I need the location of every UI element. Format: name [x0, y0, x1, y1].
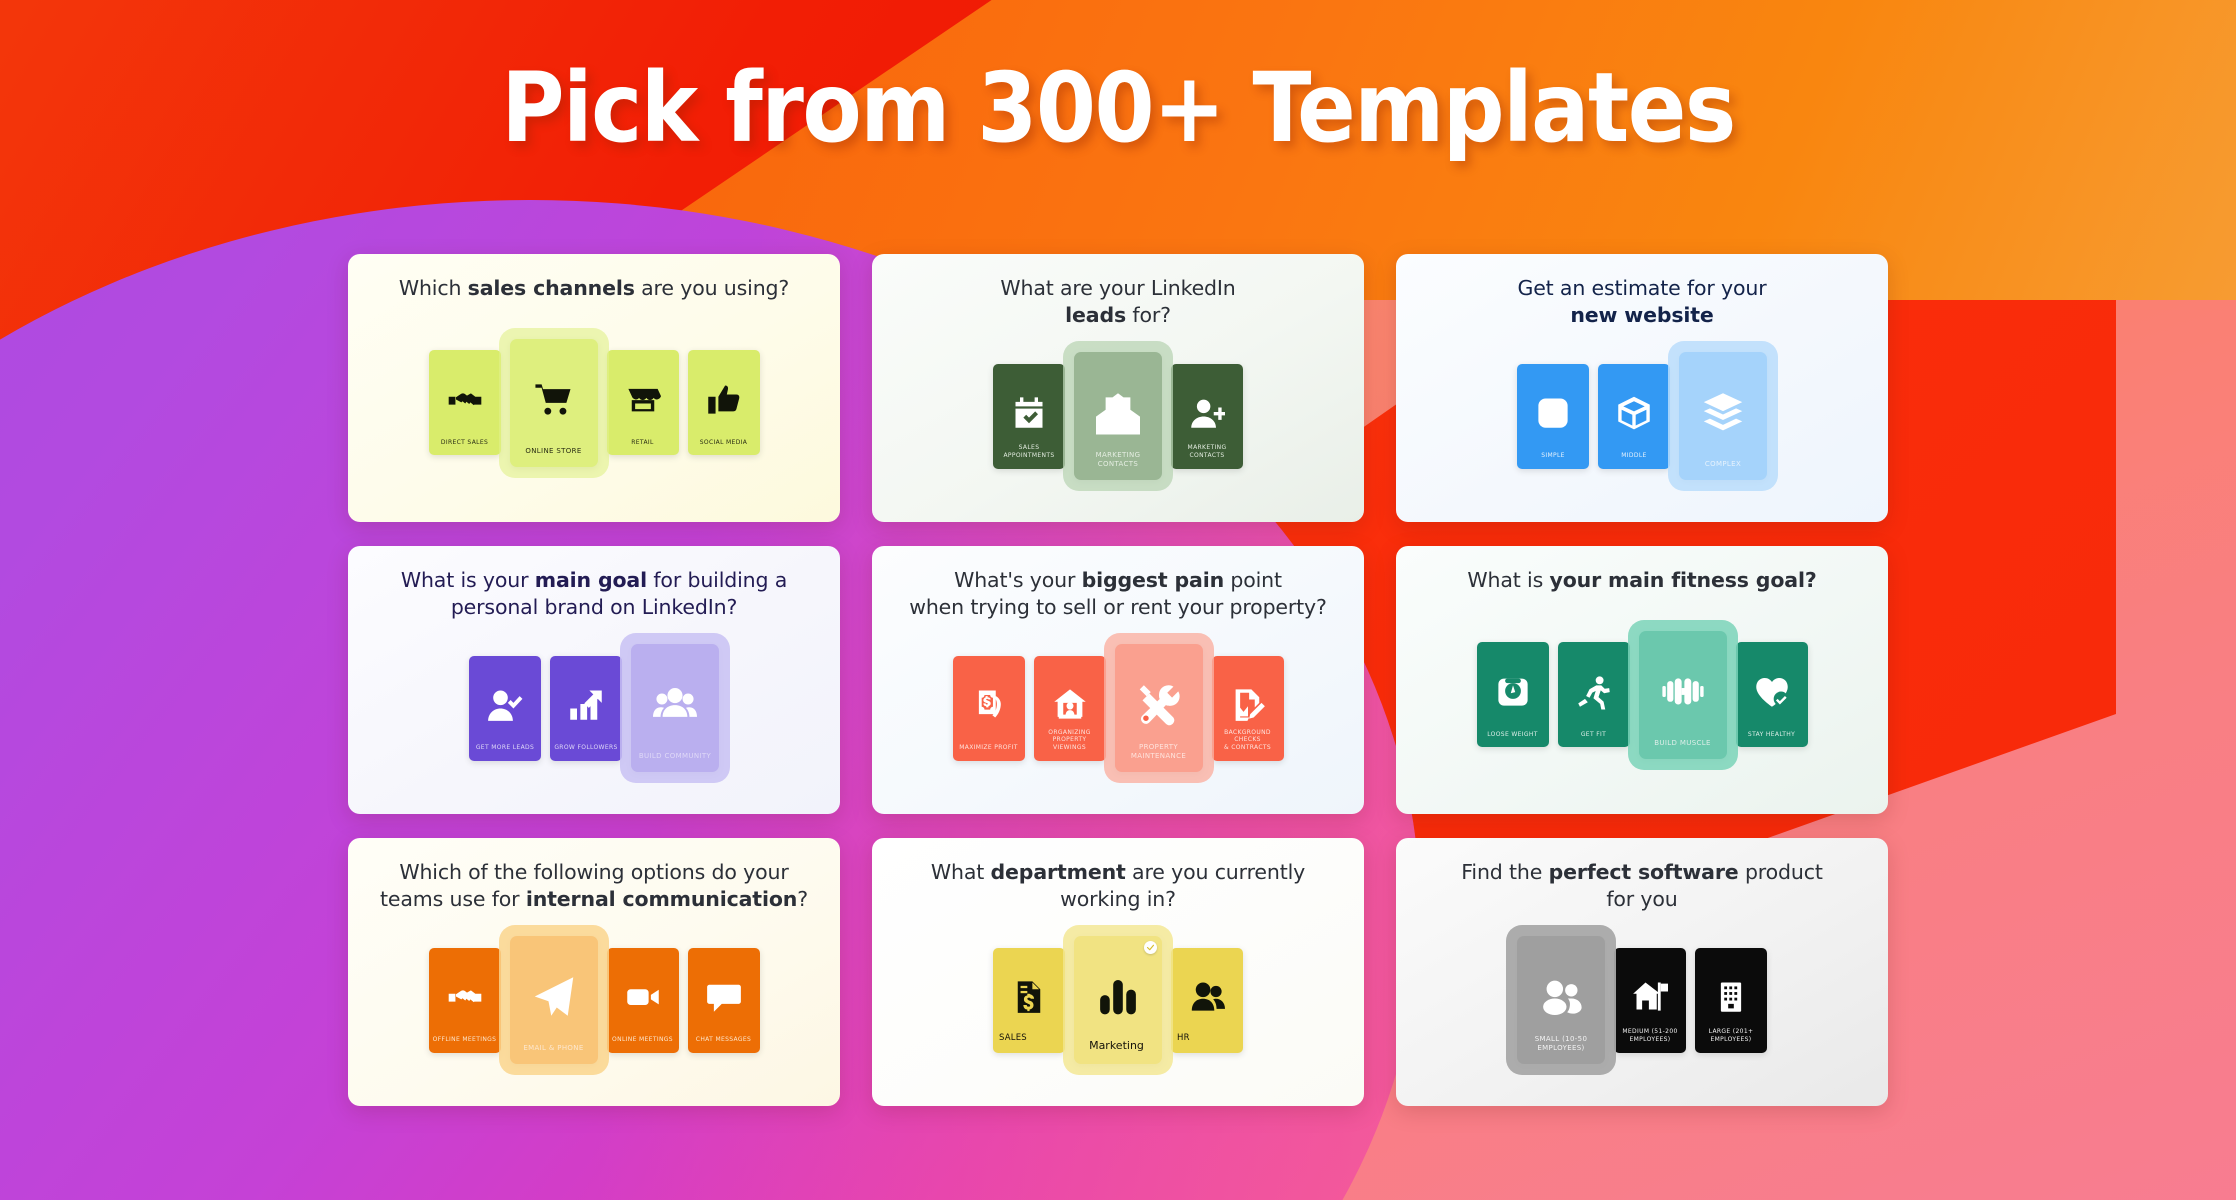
answer-tile-get-more-leads[interactable]: GET MORE LEADS [469, 656, 541, 761]
three-people-icon [1517, 975, 1605, 1019]
answer-tile-label: SALES APPOINTMENTS [993, 444, 1065, 468]
card-question: What's your biggest pain pointwhen tryin… [887, 567, 1349, 620]
document-pencil-icon [1212, 687, 1284, 723]
answer-tile-label: GROW FOLLOWERS [550, 744, 622, 761]
answer-tile-label: Marketing [1074, 1039, 1162, 1064]
answer-tile-label: ONLINE MEETINGS [607, 1036, 679, 1053]
answer-tile-label: MEDIUM (51-200 EMPLOYEES) [1614, 1028, 1686, 1052]
paper-plane-icon [510, 975, 598, 1019]
card-question: Which of the following options do yourte… [363, 859, 825, 912]
answer-tile-marketing[interactable]: Marketing [1074, 936, 1162, 1064]
answer-tile-label: SMALL (10-50 EMPLOYEES) [1517, 1035, 1605, 1064]
answer-tile-label: BACKGROUND CHECKS& CONTRACTS [1212, 729, 1284, 761]
template-card-linkedin-leads[interactable]: What are your LinkedInleads for?SALES AP… [872, 254, 1364, 522]
answer-tile-label: GET FIT [1558, 731, 1630, 748]
answer-tile-label: PROPERTY MAINTENANCE [1115, 743, 1203, 772]
answer-tile-label: SIMPLE [1517, 452, 1589, 469]
answer-tile-build-muscle[interactable]: BUILD MUSCLE [1639, 631, 1727, 759]
answer-tile-label: STAY HEALTHY [1736, 731, 1808, 748]
money-hand-icon [953, 687, 1025, 723]
answer-tile-direct-sales[interactable]: DIRECT SALES [429, 350, 501, 455]
office-building-icon [1695, 979, 1767, 1015]
answer-tile-row: DIRECT SALESONLINE STORERETAILSOCIAL MED… [348, 302, 840, 522]
card-question: What is your main goal for building aper… [363, 567, 825, 620]
answer-tile-online-meetings[interactable]: ONLINE MEETINGS [607, 948, 679, 1053]
card-question: Which sales channels are you using? [363, 275, 825, 302]
tools-icon [1115, 683, 1203, 727]
answer-tile-label: HR [1171, 1033, 1243, 1053]
template-card-personal-brand-goal[interactable]: What is your main goal for building aper… [348, 546, 840, 814]
answer-tile-organizing-property-viewings[interactable]: ORGANIZINGPROPERTY VIEWINGS [1034, 656, 1106, 761]
answer-tile-label: MAXIMIZE PROFIT [953, 744, 1025, 761]
answer-tile-build-community[interactable]: BUILD COMMUNITY [631, 644, 719, 772]
weight-scale-icon [1477, 674, 1549, 710]
answer-tile-get-fit[interactable]: GET FIT [1558, 642, 1630, 747]
answer-tile-chat-messages[interactable]: CHAT MESSAGES [688, 948, 760, 1053]
card-question: What are your LinkedInleads for? [887, 275, 1349, 328]
answer-tile-label: CHAT MESSAGES [688, 1036, 760, 1053]
card-question: What is your main fitness goal? [1411, 567, 1873, 594]
answer-tile-label: MARKETING CONTACTS [1171, 444, 1243, 468]
answer-tile-row: SALESMarketingHR [872, 912, 1364, 1106]
answer-tile-label: LARGE (201+ EMPLOYEES) [1695, 1028, 1767, 1052]
answer-tile-row: LOOSE WEIGHTGET FITBUILD MUSCLESTAY HEAL… [1396, 594, 1888, 814]
people-group-icon [631, 683, 719, 727]
answer-tile-label: MIDDLE [1598, 452, 1670, 469]
answer-tile-social-media[interactable]: SOCIAL MEDIA [688, 350, 760, 455]
card-question: What department are you currentlyworking… [887, 859, 1349, 912]
answer-tile-retail[interactable]: RETAIL [607, 350, 679, 455]
answer-tile-sales[interactable]: SALES [993, 948, 1065, 1053]
answer-tile-middle[interactable]: MIDDLE [1598, 364, 1670, 469]
answer-tile-hr[interactable]: HR [1171, 948, 1243, 1053]
answer-tile-row: GET MORE LEADSGROW FOLLOWERSBUILD COMMUN… [348, 620, 840, 814]
layers-icon [1679, 391, 1767, 435]
answer-tile-sales-appointments[interactable]: SALES APPOINTMENTS [993, 364, 1065, 469]
answer-tile-grow-followers[interactable]: GROW FOLLOWERS [550, 656, 622, 761]
shopping-cart-icon [510, 377, 598, 421]
running-person-icon [1558, 674, 1630, 710]
answer-tile-simple[interactable]: SIMPLE [1517, 364, 1589, 469]
video-camera-icon [607, 979, 679, 1015]
answer-tile-row: SMALL (10-50 EMPLOYEES)MEDIUM (51-200 EM… [1396, 912, 1888, 1106]
answer-tile-label: BUILD MUSCLE [1639, 739, 1727, 759]
rounded-square-icon [1517, 395, 1589, 431]
answer-tile-complex[interactable]: COMPLEX [1679, 352, 1767, 480]
answer-tile-label: RETAIL [607, 439, 679, 456]
open-envelope-icon [1074, 391, 1162, 435]
card-question: Get an estimate for yournew website [1411, 275, 1873, 328]
answer-tile-large-201-employees[interactable]: LARGE (201+ EMPLOYEES) [1695, 948, 1767, 1053]
answer-tile-medium-51-200-employees[interactable]: MEDIUM (51-200 EMPLOYEES) [1614, 948, 1686, 1053]
handshake-icon [429, 979, 501, 1015]
dumbbell-icon [1639, 669, 1727, 713]
template-card-software-product[interactable]: Find the perfect software productfor you… [1396, 838, 1888, 1106]
answer-tile-row: SIMPLEMIDDLECOMPLEX [1396, 328, 1888, 522]
answer-tile-marketing-contacts[interactable]: MARKETING CONTACTS [1171, 364, 1243, 469]
house-person-icon [1034, 687, 1106, 723]
answer-tile-label: SALES [993, 1033, 1065, 1053]
storefront-icon [607, 382, 679, 418]
answer-tile-loose-weight[interactable]: LOOSE WEIGHT [1477, 642, 1549, 747]
answer-tile-label: COMPLEX [1679, 460, 1767, 480]
user-plus-icon [1171, 395, 1243, 431]
answer-tile-email-phone[interactable]: EMAIL & PHONE [510, 936, 598, 1064]
answer-tile-label: ONLINE STORE [510, 447, 598, 467]
chat-bubble-icon [688, 979, 760, 1015]
user-check-icon [469, 687, 541, 723]
answer-tile-label: SOCIAL MEDIA [688, 439, 760, 456]
answer-tile-label: EMAIL & PHONE [510, 1044, 598, 1064]
answer-tile-background-checks-contracts[interactable]: BACKGROUND CHECKS& CONTRACTS [1212, 656, 1284, 761]
answer-tile-property-maintenance[interactable]: PROPERTY MAINTENANCE [1115, 644, 1203, 772]
answer-tile-row: SALES APPOINTMENTSMARKETING CONTACTSMARK… [872, 328, 1364, 522]
handshake-icon [429, 382, 501, 418]
thumbs-up-icon [688, 382, 760, 418]
invoice-dollar-icon [993, 979, 1065, 1015]
cube-icon [1598, 395, 1670, 431]
template-card-website-estimate[interactable]: Get an estimate for yournew websiteSIMPL… [1396, 254, 1888, 522]
heart-check-icon [1736, 674, 1808, 710]
card-question: Find the perfect software productfor you [1411, 859, 1873, 912]
answer-tile-label: OFFLINE MEETINGS [429, 1036, 501, 1053]
answer-tile-label: BUILD COMMUNITY [631, 752, 719, 772]
page-title: Pick from 300+ Templates [0, 52, 2236, 164]
two-people-icon [1171, 979, 1243, 1015]
answer-tile-label: GET MORE LEADS [469, 744, 541, 761]
answer-tile-offline-meetings[interactable]: OFFLINE MEETINGS [429, 948, 501, 1053]
answer-tile-small-10-50-employees[interactable]: SMALL (10-50 EMPLOYEES) [1517, 936, 1605, 1064]
answer-tile-row: MAXIMIZE PROFITORGANIZINGPROPERTY VIEWIN… [872, 620, 1364, 814]
bar-chart-icon [1074, 975, 1162, 1019]
house-flag-icon [1614, 979, 1686, 1015]
template-card-internal-communication[interactable]: Which of the following options do yourte… [348, 838, 840, 1106]
answer-tile-stay-healthy[interactable]: STAY HEALTHY [1736, 642, 1808, 747]
answer-tile-label: MARKETING CONTACTS [1074, 451, 1162, 480]
answer-tile-row: OFFLINE MEETINGSEMAIL & PHONEONLINE MEET… [348, 912, 840, 1106]
bar-chart-arrow-icon [550, 687, 622, 723]
answer-tile-marketing-contacts[interactable]: MARKETING CONTACTS [1074, 352, 1162, 480]
template-card-grid: Which sales channels are you using?DIREC… [348, 254, 1888, 1106]
template-card-fitness-goal[interactable]: What is your main fitness goal?LOOSE WEI… [1396, 546, 1888, 814]
template-card-sales-channels[interactable]: Which sales channels are you using?DIREC… [348, 254, 840, 522]
answer-tile-online-store[interactable]: ONLINE STORE [510, 339, 598, 467]
answer-tile-label: ORGANIZINGPROPERTY VIEWINGS [1034, 729, 1106, 761]
answer-tile-label: DIRECT SALES [429, 439, 501, 456]
calendar-check-icon [993, 395, 1065, 431]
answer-tile-label: LOOSE WEIGHT [1477, 731, 1549, 748]
template-card-department[interactable]: What department are you currentlyworking… [872, 838, 1364, 1106]
answer-tile-maximize-profit[interactable]: MAXIMIZE PROFIT [953, 656, 1025, 761]
check-badge-icon [1144, 941, 1157, 954]
template-card-property-pain-point[interactable]: What's your biggest pain pointwhen tryin… [872, 546, 1364, 814]
